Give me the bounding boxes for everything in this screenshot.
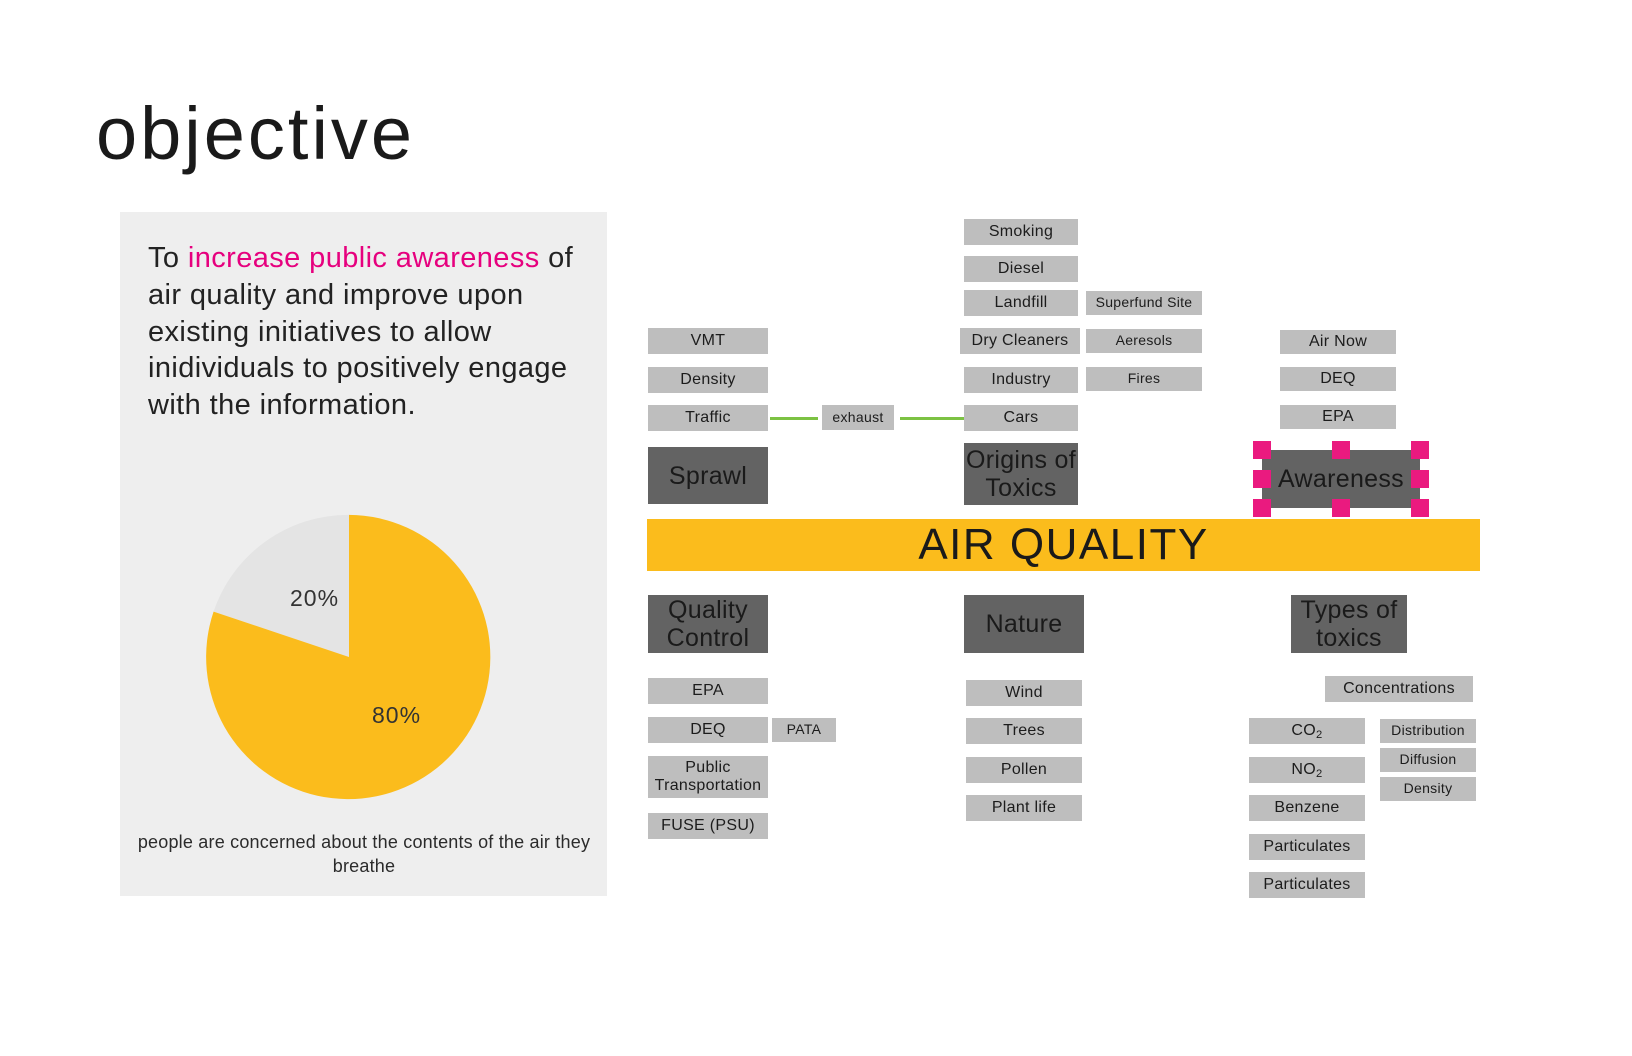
selection-handle-bottom-center[interactable]: [1332, 499, 1350, 517]
selection-handle-bottom-left[interactable]: [1253, 499, 1271, 517]
hub-sprawl[interactable]: Sprawl: [648, 447, 768, 504]
selection-handle-top-center[interactable]: [1332, 441, 1350, 459]
pie-label-minor: 20%: [290, 585, 339, 612]
node-particulates-2[interactable]: Particulates: [1249, 872, 1365, 898]
node-deq-quality[interactable]: DEQ: [648, 717, 768, 743]
node-public-transportation[interactable]: Public Transportation: [648, 756, 768, 798]
node-air-now[interactable]: Air Now: [1280, 330, 1396, 354]
node-vmt[interactable]: VMT: [648, 328, 768, 354]
hub-origins-of-toxics[interactable]: Origins of Toxics: [964, 443, 1078, 505]
node-no2-base: NO: [1291, 761, 1316, 778]
node-landfill[interactable]: Landfill: [964, 290, 1078, 316]
objective-text-before: To: [148, 242, 188, 274]
pie-label-major: 80%: [372, 702, 421, 729]
node-aeresols[interactable]: Aeresols: [1086, 329, 1202, 353]
hub-types-of-toxics[interactable]: Types of toxics: [1291, 595, 1407, 653]
node-exhaust[interactable]: exhaust: [822, 405, 894, 430]
node-fuse-psu[interactable]: FUSE (PSU): [648, 813, 768, 839]
node-epa-awareness[interactable]: EPA: [1280, 405, 1396, 429]
hub-origins-label: Origins of Toxics: [964, 446, 1078, 502]
node-pata[interactable]: PATA: [772, 718, 836, 742]
page-title: objective: [96, 97, 415, 171]
selection-handle-top-left[interactable]: [1253, 441, 1271, 459]
node-no2-subscript: 2: [1316, 768, 1323, 780]
node-plant-life[interactable]: Plant life: [966, 795, 1082, 821]
node-pollen[interactable]: Pollen: [966, 757, 1082, 783]
node-smoking[interactable]: Smoking: [964, 219, 1078, 245]
selection-handle-bottom-right[interactable]: [1411, 499, 1429, 517]
connector-traffic-exhaust: [770, 417, 818, 420]
objective-highlight: increase public awareness: [188, 242, 540, 274]
node-deq-awareness[interactable]: DEQ: [1280, 367, 1396, 391]
hub-quality-control-label: Quality Control: [648, 596, 768, 652]
node-diesel[interactable]: Diesel: [964, 256, 1078, 282]
node-trees[interactable]: Trees: [966, 718, 1082, 744]
banner-air-quality[interactable]: AIR QUALITY: [647, 519, 1480, 571]
pie-chart: [204, 512, 494, 802]
node-distribution[interactable]: Distribution: [1380, 719, 1476, 743]
hub-types-of-toxics-label: Types of toxics: [1291, 596, 1407, 652]
node-epa-quality[interactable]: EPA: [648, 678, 768, 704]
pie-chart-container: 20% 80%: [204, 512, 524, 812]
node-co2-base: CO: [1291, 722, 1316, 739]
node-benzene[interactable]: Benzene: [1249, 795, 1365, 821]
node-density-toxics[interactable]: Density: [1380, 777, 1476, 801]
node-cars[interactable]: Cars: [964, 405, 1078, 431]
node-superfund-site[interactable]: Superfund Site: [1086, 291, 1202, 315]
node-concentrations[interactable]: Concentrations: [1325, 676, 1473, 702]
node-industry[interactable]: Industry: [964, 367, 1078, 393]
slide-canvas: objective To increase public awareness o…: [0, 0, 1632, 1056]
node-wind[interactable]: Wind: [966, 680, 1082, 706]
node-fires[interactable]: Fires: [1086, 367, 1202, 391]
node-co2-subscript: 2: [1316, 729, 1323, 741]
selection-handle-middle-right[interactable]: [1411, 470, 1429, 488]
selection-handle-middle-left[interactable]: [1253, 470, 1271, 488]
node-particulates-1[interactable]: Particulates: [1249, 834, 1365, 860]
node-density[interactable]: Density: [648, 367, 768, 393]
objective-panel: To increase public awareness of air qual…: [120, 212, 607, 896]
connector-exhaust-cars: [900, 417, 964, 420]
node-traffic[interactable]: Traffic: [648, 405, 768, 431]
hub-nature[interactable]: Nature: [964, 595, 1084, 653]
hub-quality-control[interactable]: Quality Control: [648, 595, 768, 653]
node-no2[interactable]: NO2: [1249, 757, 1365, 783]
objective-statement: To increase public awareness of air qual…: [148, 240, 588, 424]
node-dry-cleaners[interactable]: Dry Cleaners: [960, 328, 1080, 354]
pie-caption: people are concerned about the contents …: [134, 830, 594, 879]
node-diffusion[interactable]: Diffusion: [1380, 748, 1476, 772]
node-co2[interactable]: CO2: [1249, 718, 1365, 744]
selection-handle-top-right[interactable]: [1411, 441, 1429, 459]
